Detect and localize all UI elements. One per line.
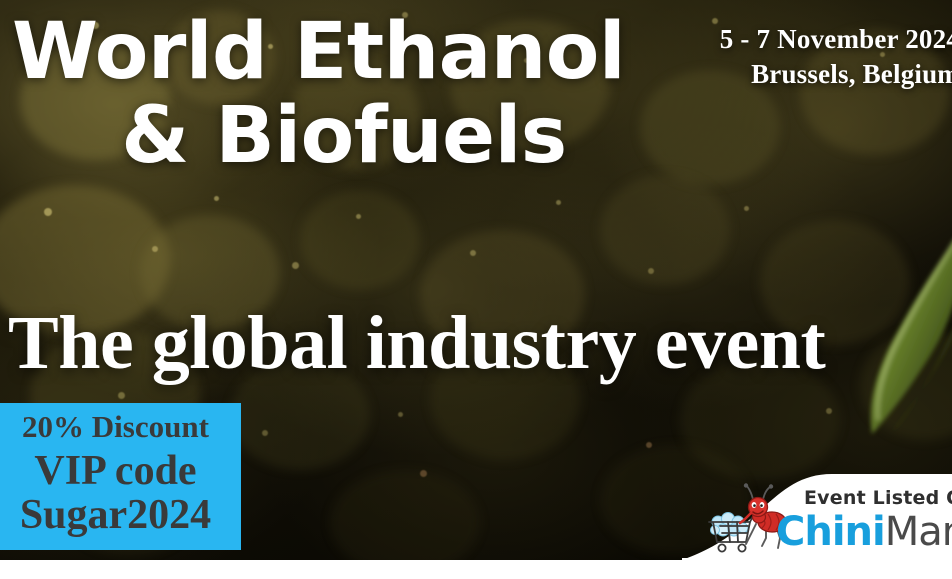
shopping-cart-icon: [709, 516, 753, 552]
logo-text-secondary: Mandi: [885, 509, 952, 555]
chinimandi-badge: Event Listed On ChiniMandi: [682, 474, 952, 560]
event-date: 5 - 7 November 2024: [660, 24, 952, 55]
discount-percent-label: 20% Discount: [0, 409, 241, 446]
event-headline: World Ethanol & Biofuels: [0, 14, 694, 175]
vip-code-value: Sugar2024: [0, 492, 241, 538]
bottom-white-strip: [0, 560, 952, 579]
chinimandi-logo[interactable]: ChiniMandi: [776, 512, 952, 552]
badge-tagline: Event Listed On: [804, 487, 952, 509]
logo-text-primary: Chini: [776, 509, 885, 555]
vip-code-label: VIP code: [0, 448, 241, 494]
headline-line-2: & Biofuels: [0, 98, 694, 174]
event-location: Brussels, Belgium: [660, 59, 952, 90]
discount-promo-box: 20% Discount VIP code Sugar2024: [0, 403, 241, 550]
event-tagline: The global industry event: [8, 305, 825, 381]
headline-line-1: World Ethanol: [0, 14, 694, 90]
event-details: 5 - 7 November 2024 Brussels, Belgium: [660, 24, 952, 90]
event-banner: World Ethanol & Biofuels 5 - 7 November …: [0, 0, 952, 579]
